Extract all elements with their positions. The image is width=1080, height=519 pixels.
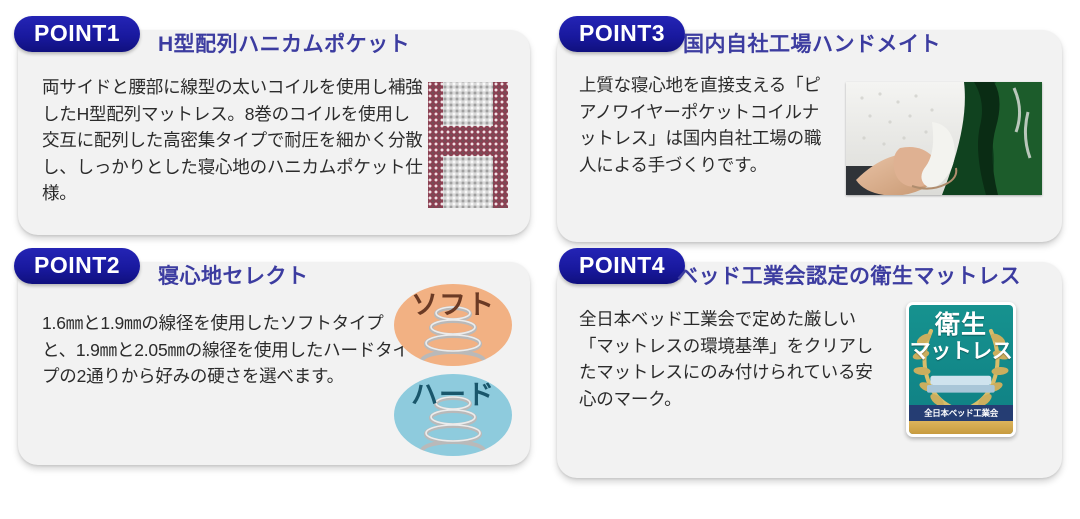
badge-line-1: 衛生 (909, 313, 1013, 338)
firmness-option-hard[interactable]: ハード (394, 374, 512, 456)
point-badge-1: POINT1 (14, 16, 140, 52)
point-body-3: 上質な寝心地を直接支える「ピアノワイヤーポケットコイルナットレス」は国内自社工場… (579, 72, 823, 178)
factory-craftsman-photo (846, 82, 1042, 195)
firmness-label-soft: ソフト (394, 292, 512, 319)
point-heading-4: ベッド工業会認定の衛生マットレス (677, 266, 1021, 287)
h-pattern-honeycomb-diagram (428, 82, 508, 208)
badge-footer-strip (909, 421, 1013, 434)
point-heading-2: 寝心地セレクト (158, 266, 309, 287)
point-card-4: POINT4 ベッド工業会認定の衛生マットレス 全日本ベッド工業会で定めた厳しい… (557, 262, 1062, 478)
point-body-1: 両サイドと腰部に線型の太いコイルを使用し補強したH型配列マットレス。8巻のコイル… (42, 74, 424, 207)
point-body-2: 1.6㎜と1.9㎜の線径を使用したソフトタイプと、1.9㎜と2.05㎜の線径を使… (42, 310, 414, 390)
badge-line-2: マットレス (909, 341, 1013, 362)
point-badge-2: POINT2 (14, 248, 140, 284)
photo-illustration (846, 82, 1042, 195)
point-body-4: 全日本ベッド工業会で定めた厳しい「マットレスの環境基準」をクリアしたマットレスに… (579, 306, 889, 412)
point-card-2: POINT2 寝心地セレクト 1.6㎜と1.9㎜の線径を使用したソフトタイプと、… (18, 262, 530, 465)
mattress-icon (927, 374, 995, 396)
point-heading-3: 国内自社工場ハンドメイト (683, 34, 941, 55)
firmness-label-hard: ハード (394, 382, 512, 409)
point-card-3: POINT3 国内自社工場ハンドメイト 上質な寝心地を直接支える「ピアノワイヤー… (557, 30, 1062, 242)
badge-association-band: 全日本ベッド工業会 (909, 405, 1013, 421)
point-heading-1: H型配列ハニカムポケット (158, 34, 410, 55)
hygiene-badge-face: 衛生 マットレス 全日本ベッド工業会 (909, 305, 1013, 434)
firmness-option-soft[interactable]: ソフト (394, 284, 512, 366)
hygiene-mattress-badge: 衛生 マットレス 全日本ベッド工業会 (906, 302, 1016, 437)
points-board: POINT1 H型配列ハニカムポケット 両サイドと腰部に線型の太いコイルを使用し… (0, 0, 1080, 519)
point-badge-3: POINT3 (559, 16, 685, 52)
point-badge-4: POINT4 (559, 248, 685, 284)
firmness-options: ソフト ハード (394, 284, 512, 456)
honeycomb-coil-dots (428, 82, 508, 208)
point-card-1: POINT1 H型配列ハニカムポケット 両サイドと腰部に線型の太いコイルを使用し… (18, 30, 530, 235)
